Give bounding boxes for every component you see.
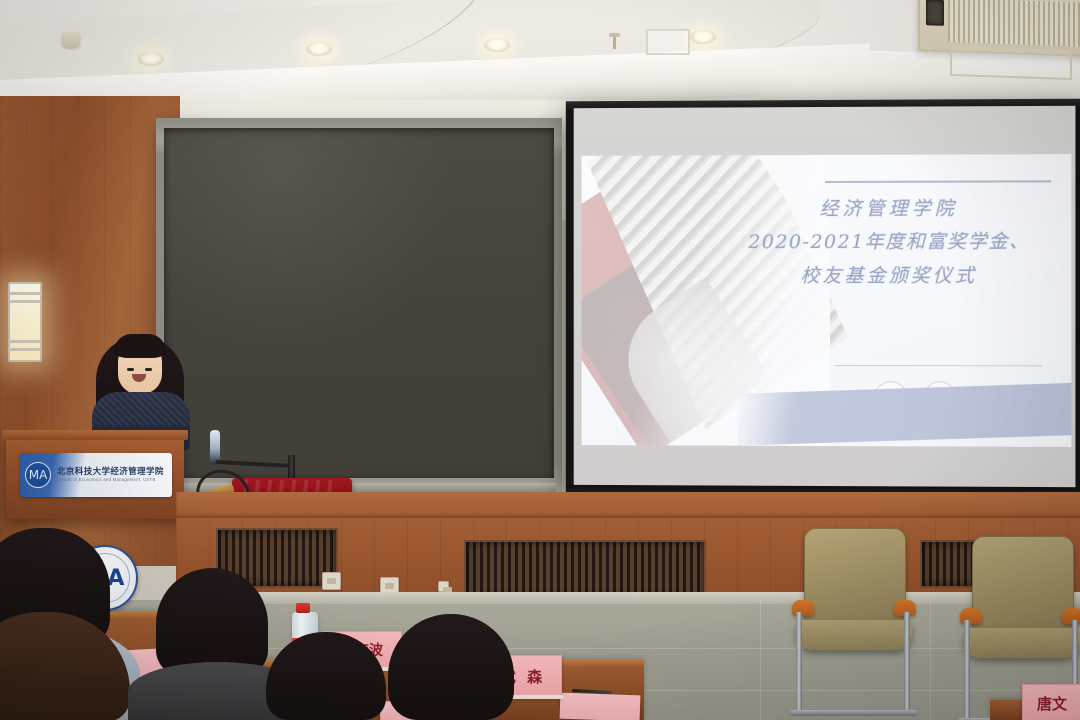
lectern-sign: MA 北京科技大学经济管理学院 School of Economics and … <box>20 453 172 497</box>
wall-vent-grille <box>464 540 706 600</box>
slide-title-line-3: 校友基金颁奖仪式 <box>717 259 1061 292</box>
attendee-head <box>388 614 514 720</box>
ceiling-hook <box>613 36 616 49</box>
ceiling-access-panel <box>646 29 690 55</box>
slide-title-line-1: 经济管理学院 <box>717 194 1061 223</box>
projection-screen: 经济管理学院 2020-2021年度和富奖学金、 校友基金颁奖仪式 鼎 MA <box>566 99 1080 502</box>
wood-wall-trim <box>176 492 1080 518</box>
wall-sconce-light <box>8 282 42 362</box>
downlight-icon <box>138 52 164 66</box>
downlight-icon <box>690 30 716 44</box>
wall-marker <box>438 581 449 592</box>
presentation-slide: 经济管理学院 2020-2021年度和富奖学金、 校友基金颁奖仪式 鼎 MA <box>582 154 1072 447</box>
screen-surface: 经济管理学院 2020-2021年度和富奖学金、 校友基金颁奖仪式 鼎 MA <box>574 106 1076 493</box>
slide-title-line-2: 2020-2021年度和富奖学金、 <box>717 223 1061 260</box>
chair-seat <box>964 628 1080 658</box>
wall-outlet <box>322 572 341 590</box>
lectern-top <box>2 430 188 440</box>
ac-drop-frame <box>950 46 1072 80</box>
blackboard-surface <box>164 128 554 478</box>
lectern-sign-english: School of Economics and Management, USTB <box>57 478 164 483</box>
lecture-room-photo: 经济管理学院 2020-2021年度和富奖学金、 校友基金颁奖仪式 鼎 MA <box>0 0 1080 720</box>
ustb-emblem-icon: MA <box>25 462 51 488</box>
lectern: MA 北京科技大学经济管理学院 School of Economics and … <box>6 437 184 519</box>
slide-divider-top <box>825 180 1052 183</box>
lectern-sign-chinese: 北京科技大学经济管理学院 <box>57 467 164 477</box>
pink-paper-sheet <box>560 693 641 720</box>
floor-skirting <box>176 592 1080 604</box>
slide-title-block: 经济管理学院 2020-2021年度和富奖学金、 校友基金颁奖仪式 <box>717 194 1061 292</box>
speaker-fringe <box>114 334 166 358</box>
downlight-icon <box>484 38 510 52</box>
smoke-detector-icon <box>62 32 80 48</box>
attendee-head <box>156 568 268 676</box>
name-card: 唐文 <box>1022 684 1080 720</box>
speaker-lace-top <box>92 392 190 426</box>
downlight-icon <box>306 42 332 56</box>
conference-chair <box>790 528 918 718</box>
ac-intake-slot <box>926 0 944 26</box>
chair-seat <box>796 620 912 650</box>
attendee-head <box>266 632 386 720</box>
microphone-head <box>210 430 220 464</box>
slide-bottom-band <box>737 383 1071 446</box>
chair-backrest <box>972 536 1074 634</box>
ac-grille <box>948 0 1080 47</box>
attendee-head <box>0 612 130 720</box>
chair-backrest <box>804 528 906 626</box>
slide-divider-bottom <box>835 365 1042 366</box>
